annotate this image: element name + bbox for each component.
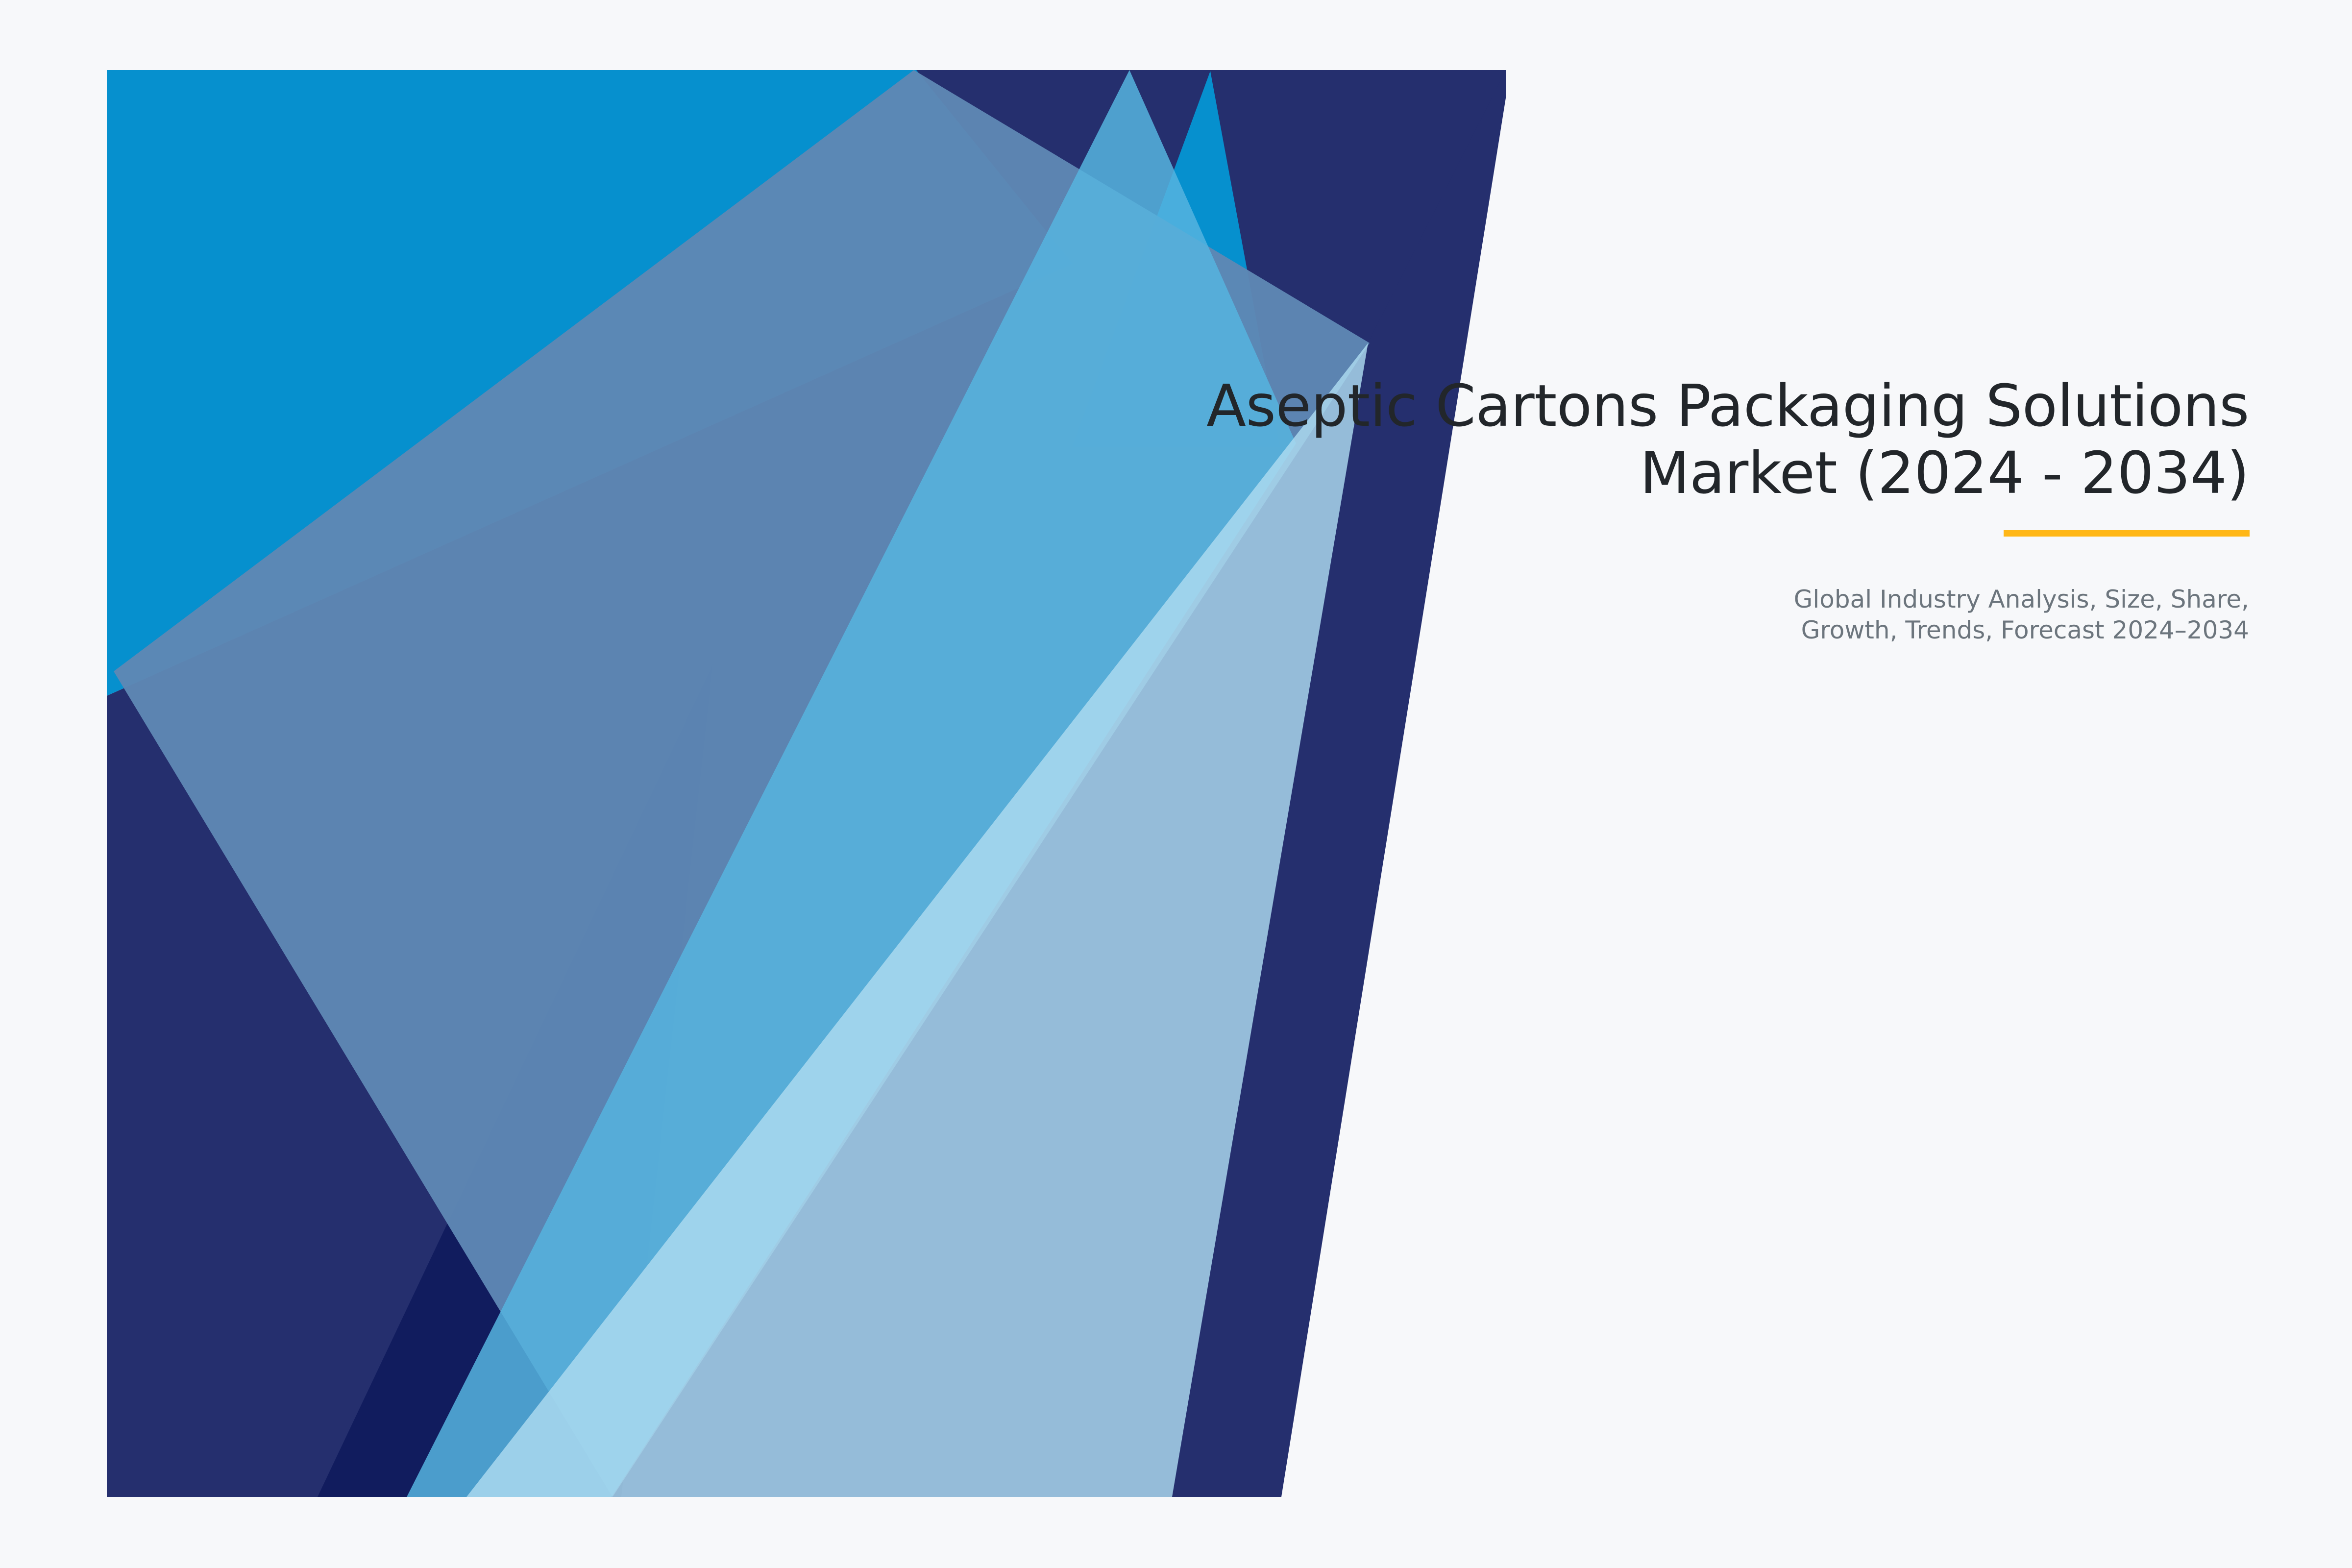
title-accent-underline	[2004, 530, 2250, 537]
cover-text-block: Aseptic Cartons Packaging Solutions Mark…	[857, 372, 2249, 646]
page-title: Aseptic Cartons Packaging Solutions Mark…	[857, 372, 2249, 507]
abstract-geometric-artwork	[0, 0, 2352, 1568]
cover-page: Aseptic Cartons Packaging Solutions Mark…	[0, 0, 2352, 1568]
page-subtitle: Global Industry Analysis, Size, Share, G…	[857, 507, 2249, 646]
artwork-shape-group	[107, 70, 1506, 1497]
